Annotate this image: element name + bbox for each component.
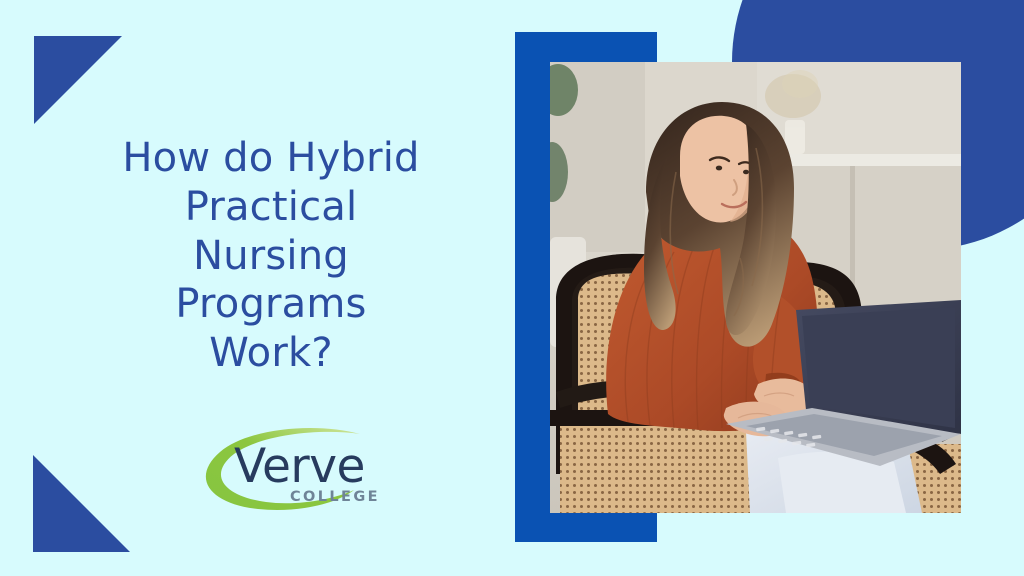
headline-line-4: Programs [62,280,480,329]
logo[interactable]: Verve COLLEGE [196,424,386,516]
triangle-bottom-left-icon [33,455,130,552]
headline-line-3: Nursing [62,232,480,281]
hero-photo [550,62,961,513]
page-title: How do Hybrid Practical Nursing Programs… [62,134,480,378]
logo-subtitle: COLLEGE [290,489,380,505]
logo-wordmark: Verve [234,439,365,494]
headline-line-1: How do Hybrid [62,134,480,183]
headline-line-2: Practical [62,183,480,232]
banner-root: How do Hybrid Practical Nursing Programs… [0,0,1024,576]
triangle-top-left-icon [34,36,122,124]
headline-line-5: Work? [62,329,480,378]
